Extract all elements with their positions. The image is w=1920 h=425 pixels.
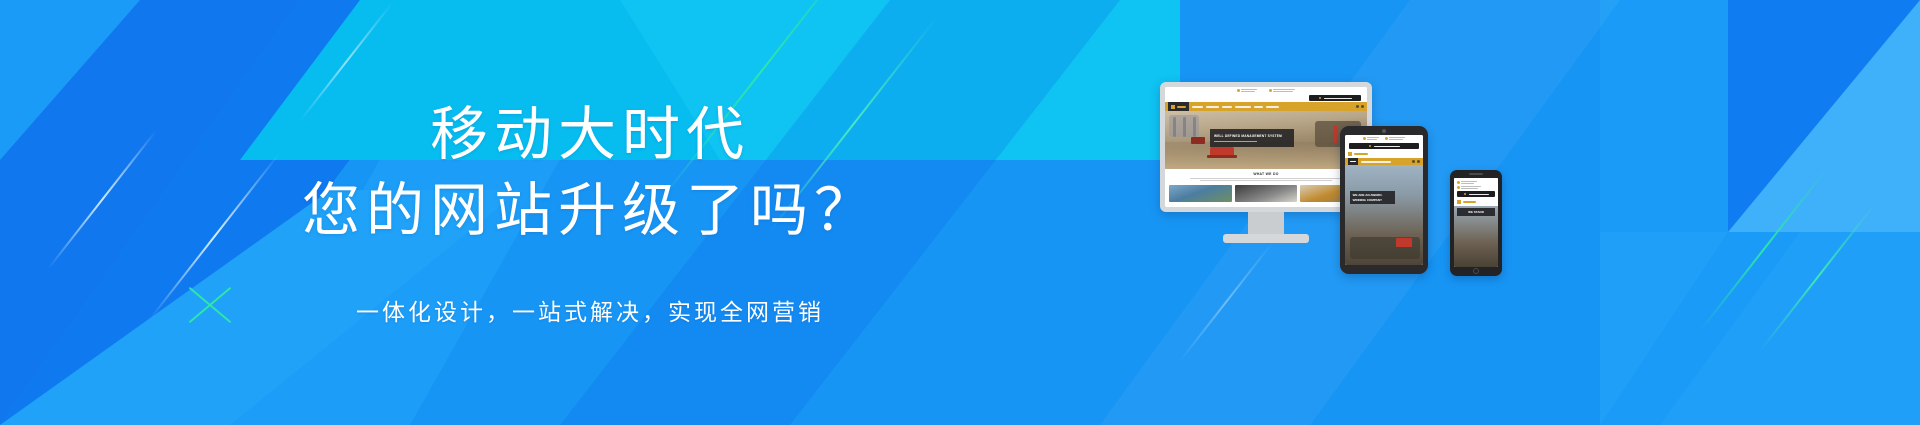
quote-label: [1374, 146, 1400, 147]
nav-strip[interactable]: [1361, 161, 1391, 163]
logo-text: [1354, 153, 1368, 155]
section-paragraph: [1169, 178, 1363, 181]
topbar-contact-1: [1237, 89, 1257, 92]
hero-truck: [1396, 238, 1412, 247]
cart-icon[interactable]: [1361, 105, 1364, 108]
quote-label: [1469, 194, 1489, 195]
phone-icon: [1237, 89, 1240, 92]
nav-icons[interactable]: [1412, 160, 1420, 163]
hero-title: WELL DEFINED MANAGEMENT SYSTEM: [1214, 134, 1290, 139]
mail-icon: [1457, 186, 1460, 189]
text-line: [1461, 181, 1477, 182]
phone-icon: [1457, 181, 1460, 184]
hero-pillar: [1173, 117, 1176, 137]
request-quote-button[interactable]: [1309, 95, 1361, 101]
promo-banner: 移动大时代 您的网站升级了吗？ 一体化设计，一站式解决，实现全网营销: [0, 0, 1920, 425]
topbar-lines: [1273, 89, 1295, 92]
topbar-lines: [1241, 89, 1257, 92]
text-line: [1367, 139, 1377, 140]
text-line: [1461, 186, 1481, 187]
sparkle-cross-icon: [183, 278, 237, 332]
home-button-icon[interactable]: [1473, 268, 1479, 274]
nav-icons[interactable]: [1356, 105, 1364, 108]
phone-website: WE STAND: [1454, 178, 1498, 267]
what-we-do-section: WHAT WE DO: [1165, 169, 1367, 183]
topbar-contact-1: [1457, 181, 1495, 184]
site-topbar: [1345, 135, 1423, 142]
hero-title: WE STAND: [1468, 210, 1484, 214]
tablet-website: WE ARE AN AWARD-WINNING COMPANY: [1345, 135, 1423, 265]
site-navbar[interactable]: [1165, 102, 1367, 111]
topbar-contact-2: [1385, 137, 1405, 140]
mobile-phone: WE STAND: [1450, 170, 1502, 276]
monitor-website: WELL DEFINED MANAGEMENT SYSTEM WHAT WE D…: [1165, 87, 1367, 207]
hero-blade: [1207, 155, 1237, 158]
quote-label: [1324, 98, 1352, 99]
search-icon[interactable]: [1412, 160, 1415, 163]
phone-topbar: [1454, 178, 1498, 190]
text-line: [1389, 137, 1405, 138]
quote-icon: [1464, 193, 1466, 195]
text-line: [1190, 178, 1341, 179]
request-quote-button[interactable]: [1349, 143, 1419, 149]
hero-caption: WE ARE AN AWARD-WINNING COMPANY: [1350, 191, 1395, 204]
logo-mark: [1457, 200, 1461, 204]
quote-icon: [1319, 97, 1321, 99]
hero-caption: WELL DEFINED MANAGEMENT SYSTEM: [1210, 129, 1294, 147]
site-logo[interactable]: [1168, 102, 1189, 111]
quote-icon: [1369, 145, 1371, 147]
phone-logo-row[interactable]: [1454, 198, 1498, 206]
tablet-hero: WE ARE AN AWARD-WINNING COMPANY: [1345, 165, 1423, 265]
site-navbar[interactable]: [1345, 158, 1423, 165]
banner-background: [0, 0, 1920, 425]
text-line: [1200, 180, 1332, 181]
tablet-device: WE ARE AN AWARD-WINNING COMPANY: [1340, 126, 1428, 274]
camera-icon: [1382, 129, 1386, 133]
text-line: [1389, 139, 1403, 140]
mail-icon: [1269, 89, 1272, 92]
phone-hero: WE STAND: [1454, 206, 1498, 267]
hero-pillar: [1183, 117, 1186, 137]
logo-text: [1463, 201, 1476, 203]
speaker-icon: [1469, 173, 1483, 175]
nav-item-services[interactable]: [1222, 106, 1232, 108]
mail-icon: [1385, 137, 1388, 140]
tablet-screen: WE ARE AN AWARD-WINNING COMPANY: [1345, 135, 1423, 265]
text-line: [1273, 91, 1293, 92]
tablet-logo-row[interactable]: [1345, 150, 1423, 158]
cart-icon[interactable]: [1417, 160, 1420, 163]
topbar-contact-1: [1363, 137, 1379, 140]
service-thumbnails: [1165, 183, 1367, 205]
phone-icon: [1363, 137, 1366, 140]
logo-mark: [1348, 152, 1352, 156]
text-line: [1367, 137, 1379, 138]
hero-crane-arm: [1334, 125, 1337, 143]
monitor-screen: WELL DEFINED MANAGEMENT SYSTEM WHAT WE D…: [1165, 87, 1367, 207]
topbar-lines: [1389, 137, 1405, 140]
nav-item-about[interactable]: [1206, 106, 1219, 108]
topbar-lines: [1461, 186, 1481, 189]
text-line: [1241, 91, 1255, 92]
topbar-lines: [1367, 137, 1379, 140]
logo-text: [1177, 106, 1186, 108]
topbar-contact-2: [1269, 89, 1295, 92]
site-topbar: [1165, 87, 1367, 94]
phone-screen: WE STAND: [1454, 178, 1498, 267]
device-mockup-group: WELL DEFINED MANAGEMENT SYSTEM WHAT WE D…: [1160, 60, 1620, 320]
hero-truck: [1191, 137, 1205, 144]
search-icon[interactable]: [1356, 105, 1359, 108]
nav-toggle[interactable]: [1348, 158, 1358, 165]
nav-item-projects[interactable]: [1235, 106, 1251, 108]
monitor-stand-neck: [1248, 212, 1284, 234]
monitor-stand-foot: [1223, 234, 1309, 243]
hero-caption: WE STAND: [1457, 208, 1495, 216]
topbar-lines: [1461, 181, 1477, 184]
topbar-contact-2: [1457, 186, 1495, 189]
nav-item-news[interactable]: [1254, 106, 1263, 108]
site-hero: WELL DEFINED MANAGEMENT SYSTEM: [1165, 111, 1367, 169]
thumbnail-item[interactable]: [1235, 185, 1298, 202]
thumbnail-item[interactable]: [1169, 185, 1232, 202]
text-line: [1461, 183, 1474, 184]
text-line: [1241, 89, 1257, 90]
hero-title: WE ARE AN AWARD-WINNING COMPANY: [1353, 193, 1383, 202]
nav-item-contact[interactable]: [1266, 106, 1279, 108]
text-line: [1273, 89, 1295, 90]
logo-mark: [1171, 105, 1175, 109]
text-line: [1461, 188, 1478, 189]
hero-pillar: [1193, 117, 1196, 137]
request-quote-button[interactable]: [1457, 191, 1496, 197]
nav-item-home[interactable]: [1192, 106, 1203, 108]
hero-underline: [1214, 141, 1257, 142]
section-title: WHAT WE DO: [1169, 172, 1363, 176]
menu-icon: [1350, 161, 1356, 162]
